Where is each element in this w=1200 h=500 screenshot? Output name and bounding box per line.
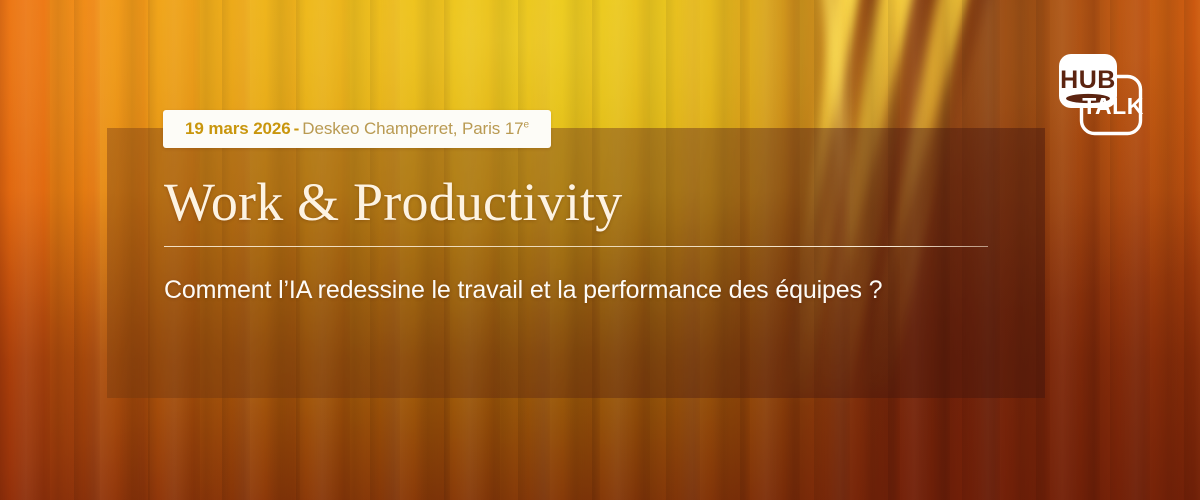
hub-talk-logo[interactable]: HUB TALK [1056,52,1144,138]
event-date-badge: 19 mars 2026 - Deskeo Champerret, Paris … [163,110,551,148]
badge-separator: - [291,119,303,139]
svg-text:TALK: TALK [1082,93,1144,119]
event-location-text: Deskeo Champerret, Paris 17 [302,119,523,138]
title-divider [164,246,988,247]
event-banner: 19 mars 2026 - Deskeo Champerret, Paris … [0,0,1200,500]
svg-text:HUB: HUB [1060,66,1116,94]
page-subtitle: Comment l’IA redessine le travail et la … [164,272,964,308]
hub-talk-logo-icon: HUB TALK [1056,52,1144,138]
event-date: 19 mars 2026 [185,119,291,139]
content-overlay-panel [107,128,1045,398]
ordinal-suffix: e [524,119,529,130]
page-title: Work & Productivity [164,175,622,229]
event-location: Deskeo Champerret, Paris 17e [302,119,529,139]
